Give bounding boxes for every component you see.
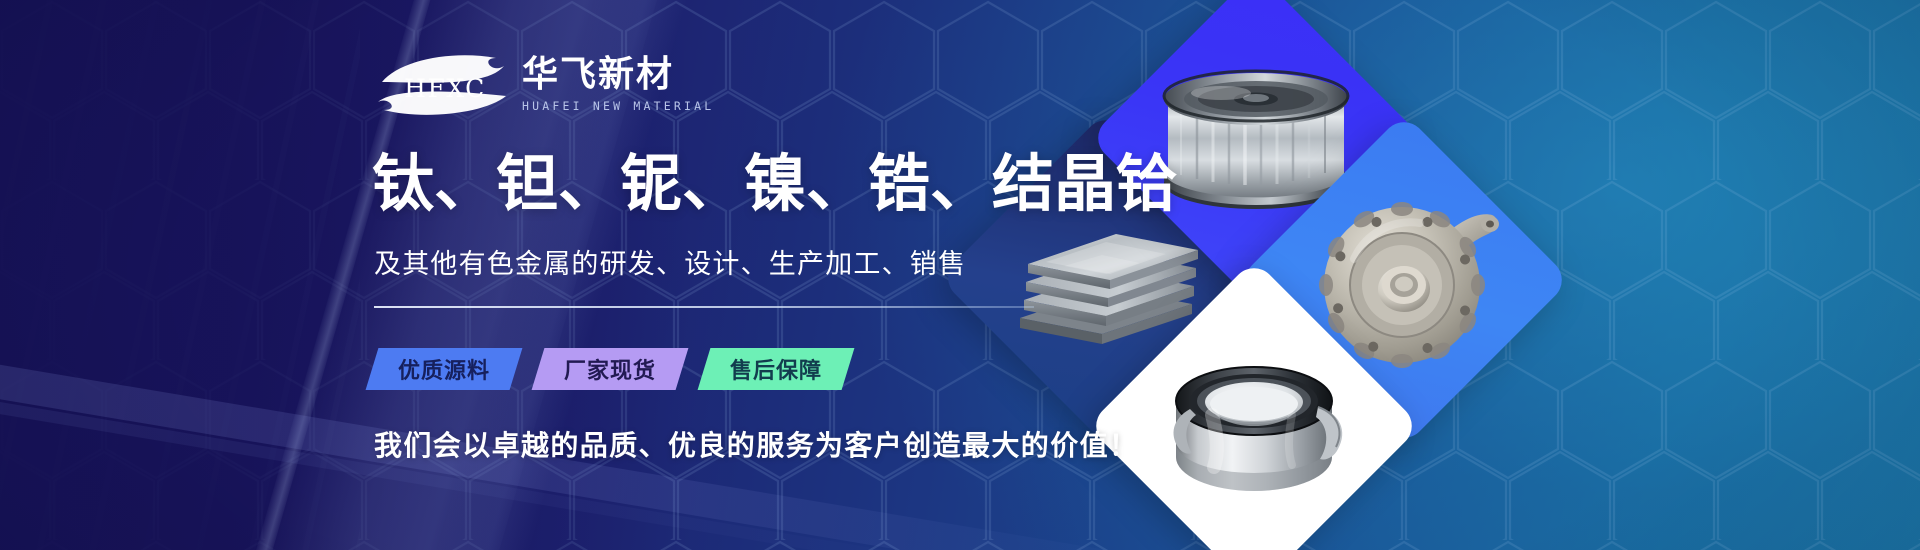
logo-company-name-cn: 华飞新材 <box>522 56 714 94</box>
badge-quality-material[interactable]: 优质源料 <box>366 348 523 390</box>
vertical-line-texture <box>0 0 360 550</box>
badge-factory-stock[interactable]: 厂家现货 <box>532 348 689 390</box>
badge-after-sales-label: 售后保障 <box>730 353 822 385</box>
hero-subheadline: 及其他有色金属的研发、设计、生产加工、销售 <box>374 242 966 281</box>
feature-badge-list: 优质源料 厂家现货 售后保障 <box>372 348 848 390</box>
hero-headline: 钛、钽、铌、镍、锆、结晶铪 <box>372 153 1178 215</box>
company-logo[interactable]: HFXC 华飞新材 HUAFEI NEW MATERIAL <box>374 52 714 118</box>
logo-wordmark: 华飞新材 HUAFEI NEW MATERIAL <box>522 52 714 113</box>
badge-quality-material-label: 优质源料 <box>398 353 490 385</box>
hero-tagline: 我们会以卓越的品质、优良的服务为客户创造最大的价值！ <box>374 424 1138 464</box>
banner-content: HFXC 华飞新材 HUAFEI NEW MATERIAL 钛、钽、铌、镍、锆、… <box>372 0 1232 550</box>
badge-factory-stock-label: 厂家现货 <box>564 353 656 385</box>
badge-after-sales[interactable]: 售后保障 <box>698 348 855 390</box>
hero-banner: HFXC 华飞新材 HUAFEI NEW MATERIAL 钛、钽、铌、镍、锆、… <box>0 0 1920 550</box>
section-divider <box>374 306 1034 308</box>
logo-mark: HFXC <box>374 52 516 118</box>
logo-company-name-en: HUAFEI NEW MATERIAL <box>522 99 714 113</box>
logo-mark-text: HFXC <box>404 74 486 103</box>
